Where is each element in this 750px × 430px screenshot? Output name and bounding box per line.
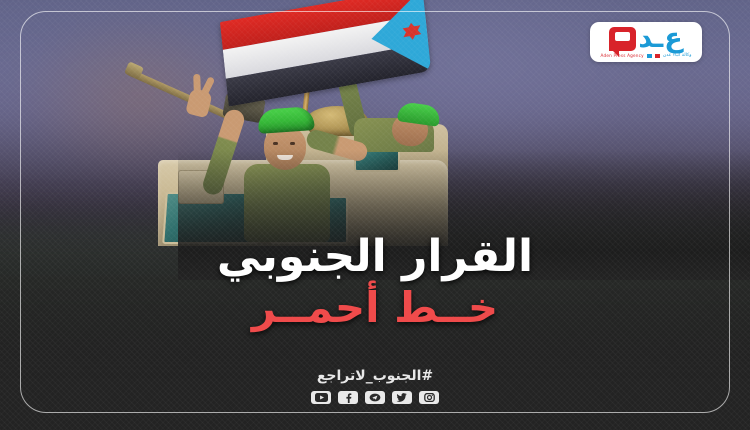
logo-subtitle-en: Aden Press Agency [601,53,644,58]
soldier-front-side-arm [305,128,370,163]
logo-bubble-inner [615,32,630,41]
twitter-icon[interactable] [392,391,412,404]
flag-triangle [367,0,431,82]
headline-line-1: القرار الجنوبي [0,232,750,281]
logo-glyph-ain: ع [664,25,682,52]
logo-mark: ع ـد [609,26,682,51]
soldiers-photo [118,0,443,240]
facebook-icon[interactable] [338,391,358,404]
youtube-icon[interactable] [311,391,331,404]
logo-dash-blue [647,54,652,58]
poster-canvas: ع ـد وكالة أنباء عدن Aden Press Agency ا… [0,0,750,430]
soldier-front [236,108,366,240]
footer-block: #الجنوب_لاتراجع [0,368,750,404]
hashtag-text: #الجنوب_لاتراجع [0,368,750,384]
aden-news-logo[interactable]: ع ـد وكالة أنباء عدن Aden Press Agency [590,22,702,62]
soldier-front-beret [257,106,315,134]
soldier-eye-left [273,142,278,145]
social-icon-bar [0,391,750,404]
logo-subtitle-ar: وكالة أنباء عدن [663,53,692,58]
soldier-smile [277,155,293,160]
instagram-icon[interactable] [419,391,439,404]
logo-speech-bubble-icon [609,27,636,51]
logo-glyph-dal: ـد [638,25,663,52]
headline-line-2: خــط أحمــر [0,283,750,333]
flag-star-icon [402,21,421,37]
logo-dash-red [655,54,660,58]
telegram-icon[interactable] [365,391,385,404]
soldier-eye-right [290,142,295,145]
headline-block: القرار الجنوبي خــط أحمــر [0,232,750,333]
gun-barrel [127,68,239,123]
